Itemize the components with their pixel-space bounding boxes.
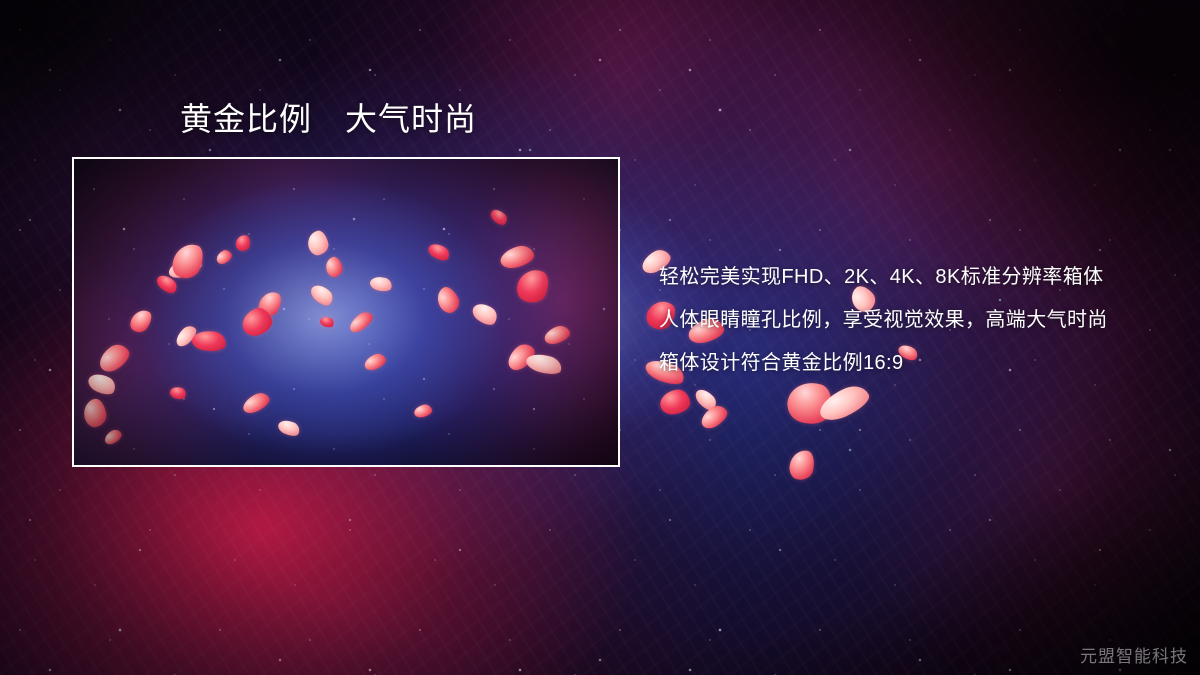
- framed-nebula-petals-image: [72, 157, 620, 467]
- presentation-slide: 黄金比例 大气时尚 轻松完美实现FHD、2K、4K、8K标准分辨率箱体 人体眼睛…: [0, 0, 1200, 675]
- flower-petal: [692, 386, 719, 414]
- body-line: 箱体设计符合黄金比例16:9: [659, 342, 1159, 385]
- page-title: 黄金比例 大气时尚: [180, 101, 477, 138]
- flower-petal: [658, 388, 691, 416]
- flower-petal: [787, 448, 817, 482]
- flower-petal: [815, 381, 873, 426]
- framed-image-vignette: [74, 159, 618, 465]
- body-copy-block: 轻松完美实现FHD、2K、4K、8K标准分辨率箱体 人体眼睛瞳孔比例，享受视觉效…: [659, 256, 1159, 385]
- body-line: 轻松完美实现FHD、2K、4K、8K标准分辨率箱体: [659, 256, 1159, 299]
- framed-image-content: [74, 159, 618, 465]
- flower-petal: [697, 402, 730, 432]
- body-line: 人体眼睛瞳孔比例，享受视觉效果，高端大气时尚: [659, 299, 1159, 342]
- watermark: 元盟智能科技: [1080, 647, 1188, 667]
